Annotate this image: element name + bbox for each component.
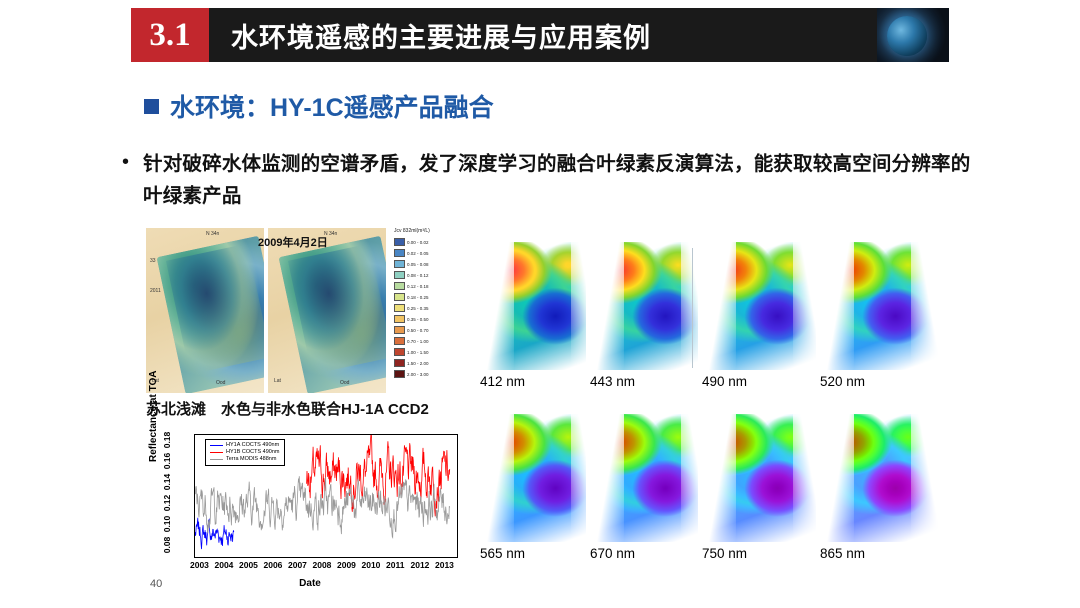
legend-color-swatch (394, 348, 405, 356)
page-title: 水环境遥感的主要进展与应用案例 (209, 8, 877, 62)
map-panel-b: N 34n Lat Ood (268, 228, 386, 393)
legend-color-swatch (394, 370, 405, 378)
band-image-mask-left (476, 242, 514, 370)
legend-color-swatch (394, 326, 405, 334)
left-figure-caption: 苏北浅滩 水色与非水色联合HJ-1A CCD2 (146, 398, 429, 419)
map-date-label: 2009年4月2日 (258, 234, 328, 250)
band-image (816, 242, 944, 370)
chart-x-tick: 2013 (435, 560, 454, 570)
legend-entry-hy1a: HY1A COCTS 490nm (210, 442, 280, 449)
band-label: 443 nm (590, 374, 635, 389)
section-number: 3.1 (131, 8, 209, 62)
chart-x-tick: 2009 (337, 560, 356, 570)
legend-title: Jcv 832ml(m³/L) (394, 228, 430, 234)
bullet-dot-icon: • (122, 148, 129, 212)
legend-label-hy1b: HY1B COCTS 490nm (226, 449, 280, 456)
legend-item-label: 0.00 - 0.02 (407, 240, 429, 245)
legend-item: 0.70 - 1.00 (394, 337, 429, 345)
legend-item: 0.50 - 0.70 (394, 326, 429, 334)
band-image-mask-right (911, 242, 944, 370)
chart-y-axis-label: Reflectance at TOA (148, 370, 159, 462)
map-axis-tag-b1: Lat (274, 378, 281, 384)
legend-color-swatch (394, 271, 405, 279)
band-image-mask-left (816, 414, 854, 542)
legend-item: 0.08 - 0.12 (394, 271, 429, 279)
band-image-mask-left (476, 414, 514, 542)
legend-label-modis: Terra MODIS 488nm (226, 456, 276, 463)
band-grid-divider (692, 248, 693, 368)
legend-item: 0.12 - 0.18 (394, 282, 429, 290)
legend-color-swatch (394, 337, 405, 345)
band-image (586, 242, 714, 370)
band-label: 520 nm (820, 374, 865, 389)
page-number: 40 (150, 578, 162, 590)
legend-item-label: 0.12 - 0.18 (407, 284, 429, 289)
band-label: 750 nm (702, 546, 747, 561)
band-image (476, 414, 604, 542)
legend-color-swatch (394, 293, 405, 301)
legend-swatch-modis (210, 459, 223, 460)
legend-color-swatch (394, 260, 405, 268)
band-image-mask-right (911, 414, 944, 542)
legend-item: 0.35 - 0.50 (394, 315, 429, 323)
band-image-mask-left (816, 242, 854, 370)
band-label: 670 nm (590, 546, 635, 561)
legend-entry-hy1b: HY1B COCTS 490nm (210, 449, 280, 456)
chart-legend: HY1A COCTS 490nm HY1B COCTS 490nm Terra … (205, 439, 285, 466)
band-label: 565 nm (480, 546, 525, 561)
map-axis-tag-a0: N 34n (206, 231, 219, 237)
legend-item-label: 0.05 - 0.08 (407, 262, 429, 267)
chart-x-tick: 2004 (215, 560, 234, 570)
band-image-mask-left (586, 414, 624, 542)
slide-header: 3.1 水环境遥感的主要进展与应用案例 (131, 8, 949, 62)
map-axis-tag-a1: 33 (150, 258, 156, 264)
band-image-mask-left (698, 414, 736, 542)
legend-item-label: 0.70 - 1.00 (407, 339, 429, 344)
chart-x-tick: 2003 (190, 560, 209, 570)
legend-item: 0.18 - 0.25 (394, 293, 429, 301)
chart-x-tick: 2005 (239, 560, 258, 570)
band-image-mask-left (698, 242, 736, 370)
legend-color-swatch (394, 282, 405, 290)
legend-color-swatch (394, 238, 405, 246)
chart-x-tick: 2008 (313, 560, 332, 570)
map-axis-tag-a2: 2011 (150, 288, 161, 294)
band-label: 412 nm (480, 374, 525, 389)
legend-item-label: 0.50 - 0.70 (407, 328, 429, 333)
legend-item-label: 1.50 - 2.00 (407, 361, 429, 366)
legend-item: 0.25 - 0.35 (394, 304, 429, 312)
legend-swatch-hy1a (210, 445, 223, 446)
chart-x-tick: 2012 (411, 560, 430, 570)
legend-color-swatch (394, 315, 405, 323)
band-image (698, 242, 826, 370)
body-bullet: • 针对破碎水体监测的空谱矛盾，发了深度学习的融合叶绿素反演算法，能获取较高空间… (122, 148, 982, 212)
band-image-mask-left (586, 242, 624, 370)
legend-item-label: 0.02 - 0.05 (407, 251, 429, 256)
legend-entry-modis: Terra MODIS 488nm (210, 456, 280, 463)
chart-x-tick: 2007 (288, 560, 307, 570)
legend-item: 0.02 - 0.05 (394, 249, 429, 257)
band-image (698, 414, 826, 542)
chart-x-tick: 2010 (362, 560, 381, 570)
chart-x-axis-label: Date (150, 578, 470, 589)
legend-label-hy1a: HY1A COCTS 490nm (226, 442, 279, 449)
map-legend: Jcv 832ml(m³/L) 0.00 - 0.020.02 - 0.050.… (392, 228, 432, 393)
legend-item: 2.00 - 3.00 (394, 370, 429, 378)
band-image (586, 414, 714, 542)
map-panel-a: 33 2011 Lat Ood N 34n (146, 228, 264, 393)
earth-from-space-image (877, 8, 949, 62)
legend-swatch-hy1b (210, 452, 223, 453)
legend-item: 0.00 - 0.02 (394, 238, 429, 246)
legend-item-label: 1.00 - 1.50 (407, 350, 429, 355)
legend-item: 1.00 - 1.50 (394, 348, 429, 356)
chart-plot-area: HY1A COCTS 490nm HY1B COCTS 490nm Terra … (194, 434, 458, 558)
chart-x-tick: 2011 (386, 560, 404, 570)
legend-color-swatch (394, 359, 405, 367)
legend-item-label: 0.08 - 0.12 (407, 273, 429, 278)
map-axis-tag-b2: Ood (340, 380, 349, 386)
left-map-figure: 33 2011 Lat Ood N 34n N 34n Lat Ood 2009… (146, 228, 466, 393)
map-axis-tag-a4: Ood (216, 380, 225, 386)
body-text: 针对破碎水体监测的空谱矛盾，发了深度学习的融合叶绿素反演算法，能获取较高空间分辨… (143, 148, 982, 212)
legend-color-swatch (394, 304, 405, 312)
band-image (816, 414, 944, 542)
reflectance-line-chart: Reflectance at TOA 0.080.100.120.140.160… (150, 428, 470, 593)
legend-item-label: 0.25 - 0.35 (407, 306, 429, 311)
band-label: 865 nm (820, 546, 865, 561)
legend-item-label: 0.35 - 0.50 (407, 317, 429, 322)
band-label: 490 nm (702, 374, 747, 389)
chart-y-tick: 0.18 (162, 427, 172, 453)
square-bullet-icon (144, 99, 159, 114)
section-heading-label: 水环境：HY-1C遥感产品融合 (170, 88, 494, 124)
section-heading: 水环境：HY-1C遥感产品融合 (144, 88, 494, 124)
legend-item: 1.50 - 2.00 (394, 359, 429, 367)
chart-series-line (195, 518, 234, 549)
legend-item-label: 2.00 - 3.00 (407, 372, 429, 377)
band-image (476, 242, 604, 370)
chart-series-line (195, 476, 450, 537)
chart-x-tick: 2006 (264, 560, 283, 570)
band-image-grid: 412 nm443 nm490 nm520 nm565 nm670 nm750 … (476, 242, 1056, 582)
legend-item: 0.05 - 0.08 (394, 260, 429, 268)
legend-color-swatch (394, 249, 405, 257)
legend-item-label: 0.18 - 0.25 (407, 295, 429, 300)
